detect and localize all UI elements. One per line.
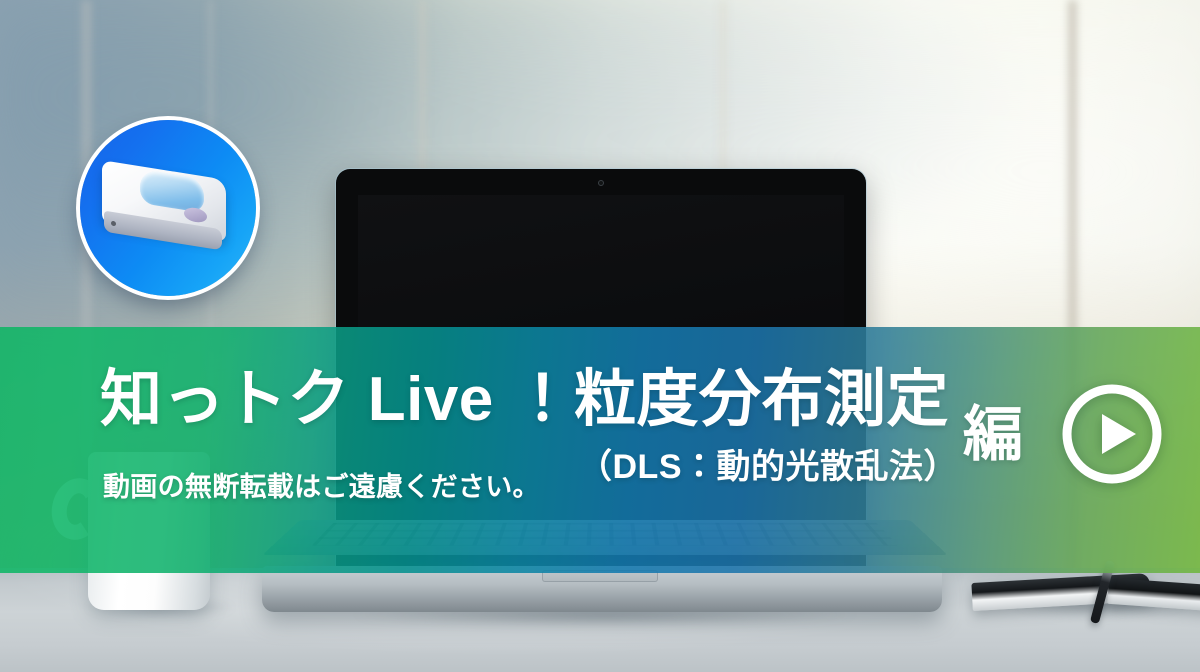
- particle-size-analyzer-icon: [98, 164, 240, 256]
- page-subtitle: （DLS：動的光散乱法）: [578, 450, 958, 484]
- edition-label: 編: [963, 405, 1023, 465]
- page-title: 知っトク Live ！粒度分布測定: [100, 369, 949, 431]
- webcam-icon: [598, 180, 604, 186]
- video-thumbnail: 知っトク Live ！粒度分布測定 （DLS：動的光散乱法） 編 動画の無断転載…: [0, 0, 1200, 672]
- instrument-led: [111, 221, 116, 227]
- copyright-notice: 動画の無断転載はご遠慮ください。: [103, 474, 540, 501]
- play-button[interactable]: [1060, 382, 1164, 486]
- play-circle-icon: [1060, 382, 1164, 486]
- particle-size-analyzer-badge: [80, 120, 256, 296]
